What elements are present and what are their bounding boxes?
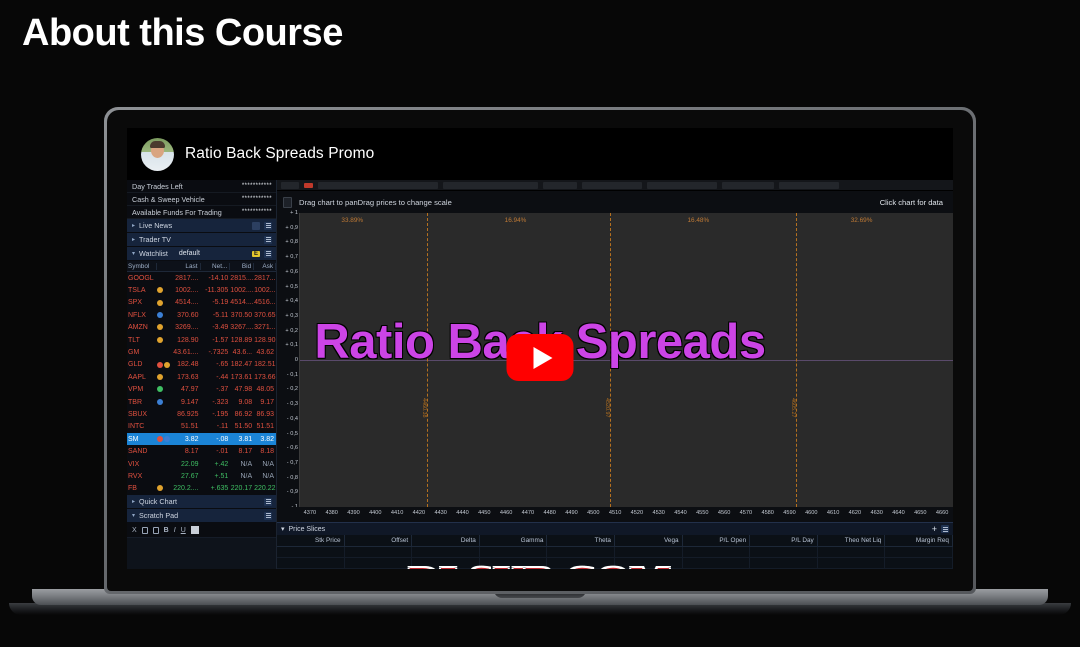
cell-ask: 1002.... bbox=[254, 287, 276, 294]
table-row[interactable]: TBR9.147-.3239.089.17 bbox=[127, 396, 276, 408]
cell bbox=[277, 558, 345, 568]
sidebar-item-quick-chart[interactable]: ▸Quick Chart bbox=[127, 495, 276, 509]
account-row[interactable]: Day Trades Left*********** bbox=[127, 180, 276, 193]
y-axis-tick: - 0,5 bbox=[287, 431, 298, 437]
probability-labels: 33.89%16.94%16.48%32.69% bbox=[300, 217, 953, 229]
column-header[interactable]: P/L Open bbox=[683, 535, 751, 546]
cell-flags bbox=[157, 312, 173, 319]
table-row[interactable]: SAND8.17-.018.178.18 bbox=[127, 445, 276, 457]
cell-net: -5.19 bbox=[201, 299, 231, 306]
cell-flags bbox=[157, 324, 173, 331]
cell bbox=[277, 547, 345, 557]
status-dot-icon bbox=[157, 300, 163, 306]
toolbar-chip[interactable] bbox=[318, 182, 438, 189]
sidebar-item-trader-tv[interactable]: ▸Trader TV bbox=[127, 233, 276, 247]
cell-net: -1.57 bbox=[201, 337, 231, 344]
table-row[interactable]: AAPL173.63-.44173.61173.66 bbox=[127, 371, 276, 383]
list-icon[interactable] bbox=[264, 222, 272, 230]
cell-last: 2817.... bbox=[173, 275, 201, 282]
cell-symbol: FB bbox=[127, 485, 157, 492]
chart-area[interactable]: + 1+ 0,9+ 0,8+ 0,7+ 0,6+ 0,5+ 0,4+ 0,3+ … bbox=[277, 213, 953, 507]
cell-bid: 2815.... bbox=[230, 275, 254, 282]
y-axis-tick: + 0,8 bbox=[285, 239, 298, 245]
cell-bid: 128.89 bbox=[230, 337, 254, 344]
cell-symbol: TLT bbox=[127, 337, 157, 344]
sidebar: Day Trades Left***********Cash & Sweep V… bbox=[127, 180, 277, 569]
laptop-lid: Ratio Back Spreads Promo Day Trades Left… bbox=[104, 107, 976, 594]
cell-symbol: INTC bbox=[127, 423, 157, 430]
cell-bid: 220.17 bbox=[230, 485, 254, 492]
probability-label: 33.89% bbox=[341, 217, 363, 224]
cell-symbol: NFLX bbox=[127, 312, 157, 319]
cell-bid: N/A bbox=[230, 473, 254, 480]
account-row-label: Day Trades Left bbox=[132, 182, 183, 191]
cell-net: +.635 bbox=[201, 485, 231, 492]
sidebar-item-label: Quick Chart bbox=[139, 497, 177, 506]
cell bbox=[480, 547, 548, 557]
x-axis-tick: 4460 bbox=[500, 510, 512, 516]
cell-last: 86.925 bbox=[173, 411, 201, 418]
chart-toolbar bbox=[277, 180, 953, 191]
cell-flags bbox=[157, 386, 173, 393]
probability-label: 16.48% bbox=[687, 217, 709, 224]
column-header[interactable]: Vega bbox=[615, 535, 683, 546]
cell-last: 220.2.... bbox=[173, 485, 201, 492]
cell-symbol: GM bbox=[127, 349, 157, 356]
sidebar-sections-bottom: ▸Quick Chart▾Scratch Pad bbox=[127, 495, 276, 523]
y-axis-tick: + 0,2 bbox=[285, 328, 298, 334]
cell-bid: 370.50 bbox=[230, 312, 254, 319]
cell-net: -.37 bbox=[201, 386, 231, 393]
cell-symbol: SPX bbox=[127, 299, 157, 306]
column-header-net[interactable]: Net... bbox=[201, 263, 231, 270]
x-axis-tick: 4510 bbox=[609, 510, 621, 516]
cell-ask: 2817.... bbox=[254, 275, 276, 282]
cell-last: 22.09 bbox=[173, 461, 201, 468]
cell-last: 173.63 bbox=[173, 374, 201, 381]
watermark-primary: DLSUB.COM bbox=[409, 559, 671, 569]
y-axis-tick: - 0,4 bbox=[287, 416, 298, 422]
list-icon[interactable] bbox=[264, 250, 272, 258]
account-row-value: *********** bbox=[242, 183, 272, 189]
column-header[interactable]: Gamma bbox=[480, 535, 548, 546]
cell-net: -.11 bbox=[201, 423, 231, 430]
cell-symbol: VIX bbox=[127, 461, 157, 468]
table-row[interactable]: SBUX86.925-.19586.9286.93 bbox=[127, 408, 276, 420]
cell-flags bbox=[157, 299, 173, 306]
price-slices-header[interactable]: ▾ Price Slices + bbox=[277, 523, 953, 535]
cell-symbol: SBUX bbox=[127, 411, 157, 418]
table-row[interactable]: VPM47.97-.3747.9848.05 bbox=[127, 384, 276, 396]
status-dot-icon bbox=[164, 436, 170, 442]
x-axis-tick: 4570 bbox=[740, 510, 752, 516]
x-axis-tick: 4580 bbox=[761, 510, 773, 516]
toolbar-chip[interactable] bbox=[722, 182, 774, 189]
sidebar-item-watchlist[interactable]: ▾ Watchlist default E bbox=[127, 247, 276, 261]
cell-bid: 47.98 bbox=[230, 386, 254, 393]
status-dot-icon bbox=[157, 399, 163, 405]
cell-symbol: RVX bbox=[127, 473, 157, 480]
cell-symbol: TSLA bbox=[127, 287, 157, 294]
cell-symbol: TBR bbox=[127, 399, 157, 406]
column-header-symbol[interactable]: Symbol bbox=[127, 263, 157, 270]
video-header: Ratio Back Spreads Promo bbox=[127, 128, 953, 180]
table-row[interactable]: TLT128.90-1.57128.89128.90 bbox=[127, 334, 276, 346]
cell-net: -.7325 bbox=[201, 349, 231, 356]
status-dot-icon bbox=[157, 312, 163, 318]
cell-ask: 8.18 bbox=[254, 448, 276, 455]
x-axis-tick: 4380 bbox=[325, 510, 337, 516]
table-row[interactable]: VIX22.09+.42N/AN/A bbox=[127, 458, 276, 470]
probability-label: 16.94% bbox=[505, 217, 527, 224]
sidebar-item-live-news[interactable]: ▸Live News bbox=[127, 219, 276, 233]
sidebar-item-label: Scratch Pad bbox=[139, 511, 178, 520]
price-marker-line[interactable] bbox=[796, 213, 797, 507]
chevron-down-icon: ▾ bbox=[132, 250, 135, 257]
account-summary: Day Trades Left***********Cash & Sweep V… bbox=[127, 180, 276, 219]
column-header-ask[interactable]: Ask bbox=[254, 263, 276, 270]
y-axis-tick: - 0,2 bbox=[287, 386, 298, 392]
status-dot-icon bbox=[157, 287, 163, 293]
x-axis-tick: 4530 bbox=[652, 510, 664, 516]
price-marker-line[interactable] bbox=[610, 213, 611, 507]
watchlist-chip[interactable]: E bbox=[252, 251, 260, 257]
zero-line bbox=[300, 360, 953, 361]
x-axis[interactable]: 4370438043904400441044204430444044504460… bbox=[277, 507, 953, 522]
page-root: About this Course Ratio Back Spreads Pro… bbox=[0, 0, 1080, 647]
price-marker-label: 4460.38 bbox=[421, 398, 427, 418]
x-axis-tick: 4470 bbox=[522, 510, 534, 516]
y-axis-tick: + 0,3 bbox=[285, 313, 298, 319]
cell-flags bbox=[157, 361, 173, 368]
table-row[interactable]: AMZN3269....-3.493267....3271.... bbox=[127, 322, 276, 334]
table-row[interactable]: SM3.82-.083.813.82 bbox=[127, 433, 276, 445]
x-axis-tick: 4370 bbox=[304, 510, 316, 516]
column-header[interactable]: Stk Price bbox=[277, 535, 345, 546]
x-axis-tick: 4590 bbox=[783, 510, 795, 516]
chevron-right-icon: ▸ bbox=[132, 236, 135, 243]
cell bbox=[683, 547, 751, 557]
cell-ask: 3.82 bbox=[254, 436, 276, 443]
table-row[interactable]: TSLA1002....-11.3051002....1002.... bbox=[127, 284, 276, 296]
cell-bid: 182.47 bbox=[230, 361, 254, 368]
cell-last: 8.17 bbox=[173, 448, 201, 455]
table-row[interactable]: GLD182.48-.65182.47182.51 bbox=[127, 359, 276, 371]
cell bbox=[750, 547, 818, 557]
y-axis-tick: - 0,9 bbox=[287, 489, 298, 495]
watchlist-rows: GOOGL2817....-14.102815....2817....TSLA1… bbox=[127, 272, 276, 495]
x-axis-tick: 4500 bbox=[587, 510, 599, 516]
cell-ask: 86.93 bbox=[254, 411, 276, 418]
cell-symbol: AAPL bbox=[127, 374, 157, 381]
cell-net: -3.49 bbox=[201, 324, 231, 331]
laptop-bezel: Ratio Back Spreads Promo Day Trades Left… bbox=[107, 110, 973, 591]
account-row[interactable]: Cash & Sweep Vehicle*********** bbox=[127, 193, 276, 206]
copy-icon[interactable] bbox=[142, 527, 148, 534]
status-dot-icon bbox=[157, 485, 163, 491]
x-axis-tick: 4630 bbox=[870, 510, 882, 516]
hamburger-icon[interactable] bbox=[941, 525, 949, 533]
y-axis-tick: - 0,8 bbox=[287, 475, 298, 481]
y-axis-tick: - 0,1 bbox=[287, 372, 298, 378]
cell-net: -11.305 bbox=[201, 287, 231, 294]
x-axis-tick: 4400 bbox=[369, 510, 381, 516]
watchlist-label: Watchlist bbox=[139, 249, 168, 258]
table-row[interactable]: GM43.61....-.732543.6...43.62 bbox=[127, 346, 276, 358]
cell-net: -.323 bbox=[201, 399, 231, 406]
y-axis-tick: + 0,4 bbox=[285, 298, 298, 304]
chart-plot[interactable]: 33.89%16.94%16.48%32.69% 4460.384520.974… bbox=[299, 213, 953, 507]
status-dot-icon bbox=[157, 374, 163, 380]
cell-symbol: GLD bbox=[127, 361, 157, 368]
x-axis-tick: 4480 bbox=[543, 510, 555, 516]
play-triangle bbox=[534, 347, 553, 369]
column-header[interactable]: Theta bbox=[547, 535, 615, 546]
cell-ask: 220.22 bbox=[254, 485, 276, 492]
cell-net: -5.11 bbox=[201, 312, 231, 319]
toolbar-chip[interactable] bbox=[281, 182, 299, 189]
cell-bid: 8.17 bbox=[230, 448, 254, 455]
y-axis-tick: + 0,9 bbox=[285, 225, 298, 231]
y-axis-tick: + 0,6 bbox=[285, 269, 298, 275]
cell-ask: 3271.... bbox=[254, 324, 276, 331]
x-axis-tick: 4620 bbox=[849, 510, 861, 516]
price-marker-label: 4520.97 bbox=[604, 398, 610, 418]
cell-last: 4514.... bbox=[173, 299, 201, 306]
x-axis-tick: 4600 bbox=[805, 510, 817, 516]
cell-bid: N/A bbox=[230, 461, 254, 468]
sidebar-item-label: Live News bbox=[139, 221, 172, 230]
chart-column: Drag chart to panDrag prices to change s… bbox=[277, 180, 953, 569]
laptop-mockup: Ratio Back Spreads Promo Day Trades Left… bbox=[104, 107, 976, 597]
cell-last: 43.61.... bbox=[173, 349, 201, 356]
format-x-button[interactable]: X bbox=[132, 527, 137, 534]
chevron-down-icon: ▾ bbox=[132, 512, 135, 519]
y-axis-tick: - 0,6 bbox=[287, 445, 298, 451]
cell-bid: 43.6... bbox=[230, 349, 254, 356]
x-axis-tick: 4560 bbox=[718, 510, 730, 516]
cell-last: 1002.... bbox=[173, 287, 201, 294]
x-axis-tick: 4390 bbox=[347, 510, 359, 516]
chart-hint-bar: Drag chart to panDrag prices to change s… bbox=[277, 191, 953, 213]
cell-net: -.44 bbox=[201, 374, 231, 381]
account-row-label: Cash & Sweep Vehicle bbox=[132, 195, 205, 204]
cell bbox=[818, 547, 886, 557]
cell bbox=[412, 547, 480, 557]
account-row-label: Available Funds For Trading bbox=[132, 208, 222, 217]
cell bbox=[345, 558, 413, 568]
cell bbox=[885, 558, 953, 568]
cell-last: 370.60 bbox=[173, 312, 201, 319]
cell-symbol: VPM bbox=[127, 386, 157, 393]
cell-ask: 182.51 bbox=[254, 361, 276, 368]
format-b-button[interactable]: B bbox=[164, 527, 169, 534]
x-axis-tick: 4610 bbox=[827, 510, 839, 516]
column-header[interactable]: Delta bbox=[412, 535, 480, 546]
cell-last: 9.147 bbox=[173, 399, 201, 406]
format-u-button[interactable]: U bbox=[181, 527, 186, 534]
cell-symbol: GOOGL bbox=[127, 275, 157, 282]
x-axis-tick: 4660 bbox=[936, 510, 948, 516]
y-axis-tick: + 0,7 bbox=[285, 254, 298, 260]
chevron-right-icon: ▸ bbox=[132, 222, 135, 229]
cell-flags bbox=[157, 287, 173, 294]
column-header-bid[interactable]: Bid bbox=[230, 263, 254, 270]
column-header[interactable]: Offset bbox=[345, 535, 413, 546]
y-axis-tick: + 1 bbox=[290, 210, 298, 216]
account-row-value: *********** bbox=[242, 196, 272, 202]
color-swatch-icon[interactable] bbox=[191, 526, 199, 534]
cell-ask: N/A bbox=[254, 461, 276, 468]
probability-label: 32.69% bbox=[851, 217, 873, 224]
x-axis-tick: 4420 bbox=[413, 510, 425, 516]
cell-ask: 43.62 bbox=[254, 349, 276, 356]
cell bbox=[885, 547, 953, 557]
cell bbox=[683, 558, 751, 568]
x-axis-tick: 4490 bbox=[565, 510, 577, 516]
cell-flags bbox=[157, 337, 173, 344]
scratchpad-toolbar: XBIU bbox=[127, 523, 276, 537]
sidebar-item-label: Trader TV bbox=[139, 235, 171, 244]
sidebar-item-scratch-pad[interactable]: ▾Scratch Pad bbox=[127, 509, 276, 523]
status-dot-icon bbox=[164, 362, 170, 368]
page-title: About this Course bbox=[22, 12, 343, 55]
cell-ask: 51.51 bbox=[254, 423, 276, 430]
toolbar-chip[interactable] bbox=[543, 182, 577, 189]
column-header[interactable]: Theo Net Liq bbox=[818, 535, 886, 546]
chevron-down-icon[interactable]: ▾ bbox=[281, 525, 285, 533]
x-axis-tick: 4540 bbox=[674, 510, 686, 516]
toolbar-chip[interactable] bbox=[582, 182, 642, 189]
status-dot-icon bbox=[157, 436, 163, 442]
cell-net: -.65 bbox=[201, 361, 231, 368]
cell-flags bbox=[157, 485, 173, 492]
x-axis-tick: 4450 bbox=[478, 510, 490, 516]
column-header[interactable]: Margin Req bbox=[885, 535, 953, 546]
cell-bid: 4514.... bbox=[230, 299, 254, 306]
tag-icon[interactable] bbox=[252, 222, 260, 230]
x-axis-tick: 4430 bbox=[434, 510, 446, 516]
cell-bid: 51.50 bbox=[230, 423, 254, 430]
list-icon[interactable] bbox=[264, 498, 272, 506]
list-icon[interactable] bbox=[264, 236, 272, 244]
chevron-right-icon: ▸ bbox=[132, 498, 135, 505]
cell-last: 3269.... bbox=[173, 324, 201, 331]
account-row[interactable]: Available Funds For Trading*********** bbox=[127, 206, 276, 219]
table-row[interactable]: GOOGL2817....-14.102815....2817.... bbox=[127, 272, 276, 284]
cell bbox=[818, 558, 886, 568]
watchlist-table-header: Symbol Last Net... Bid Ask bbox=[127, 261, 276, 272]
price-marker-label: 4605.27 bbox=[790, 398, 796, 418]
x-axis-tick: 4440 bbox=[456, 510, 468, 516]
cell-symbol: SAND bbox=[127, 448, 157, 455]
paste-icon[interactable] bbox=[153, 527, 159, 534]
chart-hint-right: Click chart for data bbox=[880, 198, 943, 207]
table-row[interactable] bbox=[277, 547, 953, 558]
cell-last: 3.82 bbox=[173, 436, 201, 443]
avatar bbox=[141, 138, 174, 171]
chart-panel-icon[interactable] bbox=[283, 197, 292, 208]
watchlist-selected[interactable]: default bbox=[172, 250, 248, 257]
y-axis-tick: + 0,5 bbox=[285, 284, 298, 290]
cell-flags bbox=[157, 436, 173, 443]
cell-bid: 3.81 bbox=[230, 436, 254, 443]
cell-net: +.42 bbox=[201, 461, 231, 468]
cell-last: 182.48 bbox=[173, 361, 201, 368]
cell-last: 27.67 bbox=[173, 473, 201, 480]
cell-last: 51.51 bbox=[173, 423, 201, 430]
cell-net: -.08 bbox=[201, 436, 231, 443]
column-header-last[interactable]: Last bbox=[173, 263, 201, 270]
youtube-play-icon[interactable] bbox=[507, 334, 574, 381]
x-axis-tick: 4410 bbox=[391, 510, 403, 516]
table-row[interactable]: INTC51.51-.1151.5051.51 bbox=[127, 421, 276, 433]
cell-symbol: AMZN bbox=[127, 324, 157, 331]
cell-net: -.195 bbox=[201, 411, 231, 418]
cell bbox=[750, 558, 818, 568]
y-axis[interactable]: + 1+ 0,9+ 0,8+ 0,7+ 0,6+ 0,5+ 0,4+ 0,3+ … bbox=[277, 213, 299, 507]
y-axis-tick: + 0,1 bbox=[285, 342, 298, 348]
status-dot-icon bbox=[157, 324, 163, 330]
cell-ask: 4516.... bbox=[254, 299, 276, 306]
y-axis-tick: - 0,3 bbox=[287, 401, 298, 407]
x-axis-tick: 4550 bbox=[696, 510, 708, 516]
list-icon[interactable] bbox=[264, 512, 272, 520]
cell-flags bbox=[157, 374, 173, 381]
table-row[interactable]: NFLX370.60-5.11370.50370.65 bbox=[127, 309, 276, 321]
cell-ask: 48.05 bbox=[254, 386, 276, 393]
video-title[interactable]: Ratio Back Spreads Promo bbox=[185, 145, 374, 163]
scratchpad-area[interactable] bbox=[127, 537, 276, 569]
format-i-button[interactable]: I bbox=[174, 527, 176, 534]
plus-icon[interactable]: + bbox=[932, 525, 937, 534]
toolbar-chip[interactable] bbox=[779, 182, 839, 189]
cell-net: +.51 bbox=[201, 473, 231, 480]
cell bbox=[615, 547, 683, 557]
cell bbox=[547, 547, 615, 557]
x-axis-tick: 4640 bbox=[892, 510, 904, 516]
cell-last: 47.97 bbox=[173, 386, 201, 393]
price-slices-title: Price Slices bbox=[289, 526, 326, 533]
cell-flags bbox=[157, 399, 173, 406]
status-dot-icon bbox=[157, 362, 163, 368]
table-row[interactable]: RVX27.67+.51N/AN/A bbox=[127, 470, 276, 482]
cell-ask: 173.66 bbox=[254, 374, 276, 381]
cell-bid: 3267.... bbox=[230, 324, 254, 331]
price-slices-columns: Stk PriceOffsetDeltaGammaThetaVegaP/L Op… bbox=[277, 535, 953, 547]
column-header[interactable]: P/L Day bbox=[750, 535, 818, 546]
cell-ask: N/A bbox=[254, 473, 276, 480]
cell-bid: 86.92 bbox=[230, 411, 254, 418]
price-marker-line[interactable] bbox=[427, 213, 428, 507]
cell-bid: 1002.... bbox=[230, 287, 254, 294]
cell-ask: 370.65 bbox=[254, 312, 276, 319]
y-axis-tick: 0 bbox=[295, 357, 298, 363]
table-row[interactable]: SPX4514....-5.194514....4516.... bbox=[127, 297, 276, 309]
x-axis-tick: 4520 bbox=[631, 510, 643, 516]
table-row[interactable]: FB220.2....+.635220.17220.22 bbox=[127, 483, 276, 495]
cell-symbol: SM bbox=[127, 436, 157, 443]
chart-hint-left: Drag chart to panDrag prices to change s… bbox=[299, 198, 452, 207]
y-axis-tick: - 0,7 bbox=[287, 460, 298, 466]
toolbar-chip[interactable] bbox=[443, 182, 538, 189]
status-dot-icon bbox=[157, 386, 163, 392]
status-dot-icon bbox=[157, 337, 163, 343]
sidebar-sections-top: ▸Live News▸Trader TV bbox=[127, 219, 276, 247]
cell bbox=[345, 547, 413, 557]
cell-ask: 128.90 bbox=[254, 337, 276, 344]
toolbar-chip[interactable] bbox=[647, 182, 717, 189]
